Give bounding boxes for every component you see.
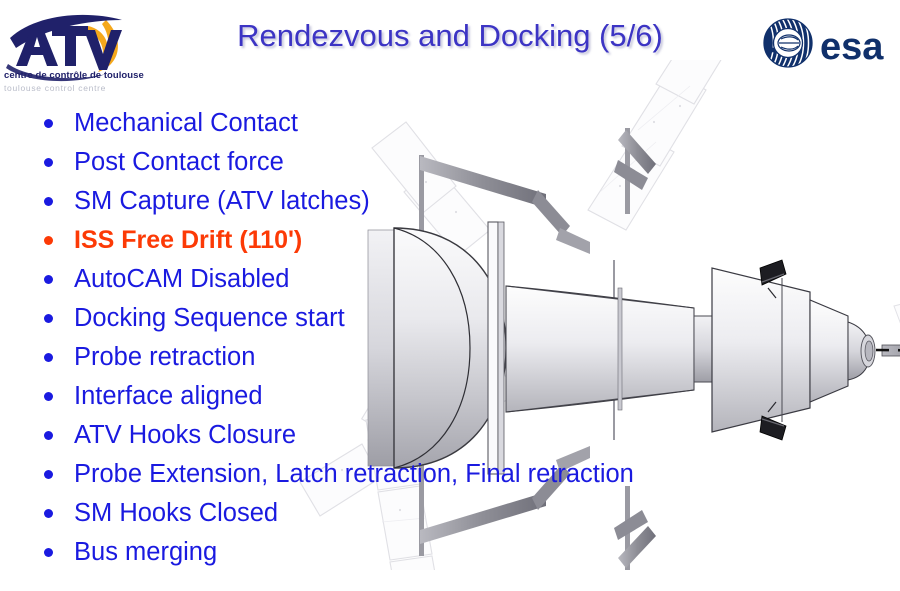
list-item: SM Hooks Closed: [30, 494, 750, 533]
list-item: Bus merging: [30, 533, 750, 572]
list-item: Interface aligned: [30, 377, 750, 416]
bullet-marker-icon: [44, 509, 53, 518]
list-item-highlighted: ISS Free Drift (110'): [30, 221, 750, 260]
atv-logo: centre de contrôle de toulouse toulouse …: [2, 4, 142, 96]
page-title: Rendezvous and Docking (5/6): [150, 18, 750, 54]
bullet-list: Mechanical Contact Post Contact force SM…: [30, 104, 750, 572]
list-item-label: ATV Hooks Closure: [74, 416, 750, 454]
list-item: Mechanical Contact: [30, 104, 750, 143]
list-item: Probe Extension, Latch retraction, Final…: [30, 455, 750, 494]
bullet-marker-icon: [44, 314, 53, 323]
bullet-marker-icon: [44, 353, 53, 362]
list-item-label: SM Hooks Closed: [74, 494, 750, 532]
bullet-marker-icon: [44, 470, 53, 479]
list-item-label: SM Capture (ATV latches): [74, 182, 750, 220]
list-item-label: Probe retraction: [74, 338, 750, 376]
bullet-marker-icon: [44, 275, 53, 284]
list-item: ATV Hooks Closure: [30, 416, 750, 455]
list-item: SM Capture (ATV latches): [30, 182, 750, 221]
list-item-label: Mechanical Contact: [74, 104, 750, 142]
atv-subtitle-fr: centre de contrôle de toulouse: [4, 70, 144, 81]
list-item: Docking Sequence start: [30, 299, 750, 338]
list-item-label: Bus merging: [74, 533, 750, 571]
probe-panel-faint: [894, 286, 900, 338]
slide-canvas: centre de contrôle de toulouse toulouse …: [0, 0, 900, 591]
bullet-marker-icon: [44, 392, 53, 401]
bullet-marker-icon: [44, 197, 53, 206]
bullet-marker-icon: [44, 158, 53, 167]
bullet-marker-icon: [44, 119, 53, 128]
list-item-label: Probe Extension, Latch retraction, Final…: [74, 455, 750, 493]
list-item-label: Docking Sequence start: [74, 299, 750, 337]
list-item: Post Contact force: [30, 143, 750, 182]
bullet-marker-icon: [44, 236, 53, 245]
list-item-label: Post Contact force: [74, 143, 750, 181]
atv-subtitle-en: toulouse control centre: [4, 83, 106, 93]
bullet-marker-icon: [44, 431, 53, 440]
list-item-label: Interface aligned: [74, 377, 750, 415]
list-item-label: ISS Free Drift (110'): [74, 221, 750, 259]
list-item: AutoCAM Disabled: [30, 260, 750, 299]
list-item-label: AutoCAM Disabled: [74, 260, 750, 298]
list-item: Probe retraction: [30, 338, 750, 377]
bullet-marker-icon: [44, 548, 53, 557]
